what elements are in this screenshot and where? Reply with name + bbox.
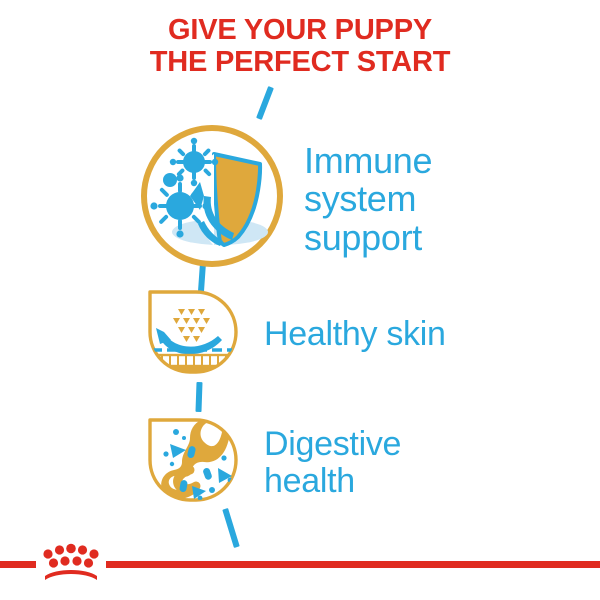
digestive-stomach-icon [138,408,242,517]
benefit-item-digest: Digestive health [138,408,401,517]
royal-canin-crown-logo [40,541,102,581]
connector-dash-1 [256,86,274,120]
benefit-label-skin: Healthy skin [264,316,446,352]
immune-shield-icon [138,122,286,275]
healthy-skin-icon [138,280,242,389]
benefit-label-digest: Digestive health [264,426,401,498]
benefit-item-skin: Healthy skin [138,280,446,389]
benefit-item-immune: Immune system support [138,122,432,275]
headline-line-2: THE PERFECT START [0,46,600,78]
poster-canvas: GIVE YOUR PUPPY THE PERFECT START [0,0,600,600]
headline-line-1: GIVE YOUR PUPPY [0,14,600,46]
benefit-label-immune: Immune system support [304,142,432,256]
page-title: GIVE YOUR PUPPY THE PERFECT START [0,14,600,79]
